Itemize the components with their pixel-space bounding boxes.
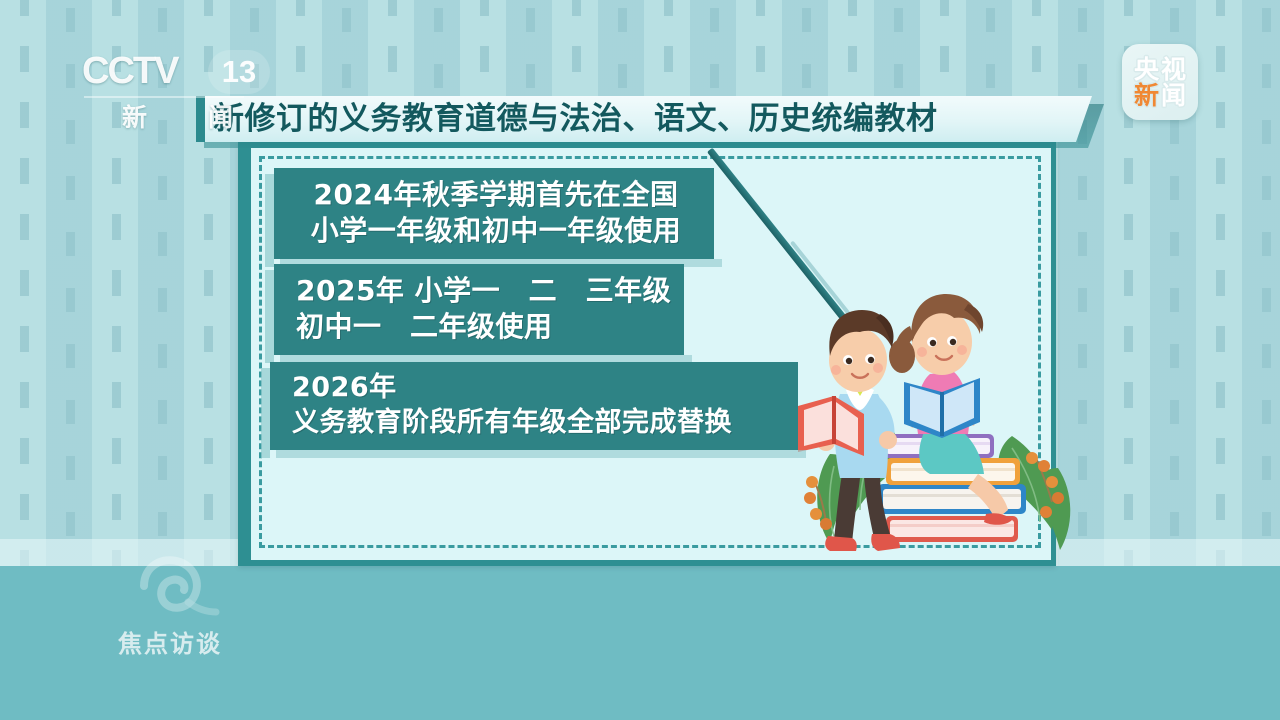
timeline-item-2025-line-2: 初中一 二年级使用 — [296, 309, 666, 345]
cctv-channel-logo: CCTV 13 新 闻 — [82, 52, 272, 132]
broadcast-frame: 2024年秋季学期首先在全国 小学一年级和初中一年级使用 2025年 小学一 二… — [0, 0, 1280, 720]
headline-banner: 新修订的义务教育道德与法治、语文、历史统编教材 — [196, 96, 1092, 142]
timeline-item-2025-line-1: 2025年 小学一 二 三年级 — [296, 273, 666, 309]
timeline-item-2024-line-2: 小学一年级和初中一年级使用 — [296, 213, 696, 249]
timeline-item-2026: 2026年 义务教育阶段所有年级全部完成替换 — [270, 362, 798, 450]
program-name: 焦点访谈 — [118, 624, 222, 659]
app-badge-line-2: 新 闻 — [1134, 83, 1186, 108]
app-badge-char-xin: 新 — [1134, 83, 1159, 108]
timeline-item-2026-line-1: 2026年 — [292, 371, 780, 406]
timeline-item-2026-line-2: 义务教育阶段所有年级全部完成替换 — [292, 406, 780, 441]
app-badge-line-1: 央 视 — [1134, 57, 1186, 82]
headline-text: 新修订的义务教育道德与法治、语文、历史统编教材 — [213, 104, 938, 135]
timeline-item-2024: 2024年秋季学期首先在全国 小学一年级和初中一年级使用 — [274, 168, 714, 259]
cctv-news-app-badge: 央 视 新 闻 — [1122, 44, 1198, 120]
timeline-item-2025: 2025年 小学一 二 三年级 初中一 二年级使用 — [274, 264, 684, 355]
cctv-channel-name: 新 闻 — [122, 98, 251, 134]
app-badge-char-shi: 视 — [1161, 57, 1186, 82]
cctv-channel-number: 13 — [208, 50, 270, 94]
app-badge-char-wen: 闻 — [1161, 83, 1186, 108]
headline-banner-bar: 新修订的义务教育道德与法治、语文、历史统编教材 — [196, 96, 1092, 142]
timeline-item-2024-line-1: 2024年秋季学期首先在全国 — [296, 177, 696, 213]
students-illustration — [790, 268, 1090, 564]
program-swirl-icon — [130, 552, 222, 624]
program-watermark: 焦点访谈 — [118, 552, 318, 662]
app-badge-char-yang: 央 — [1134, 57, 1159, 82]
